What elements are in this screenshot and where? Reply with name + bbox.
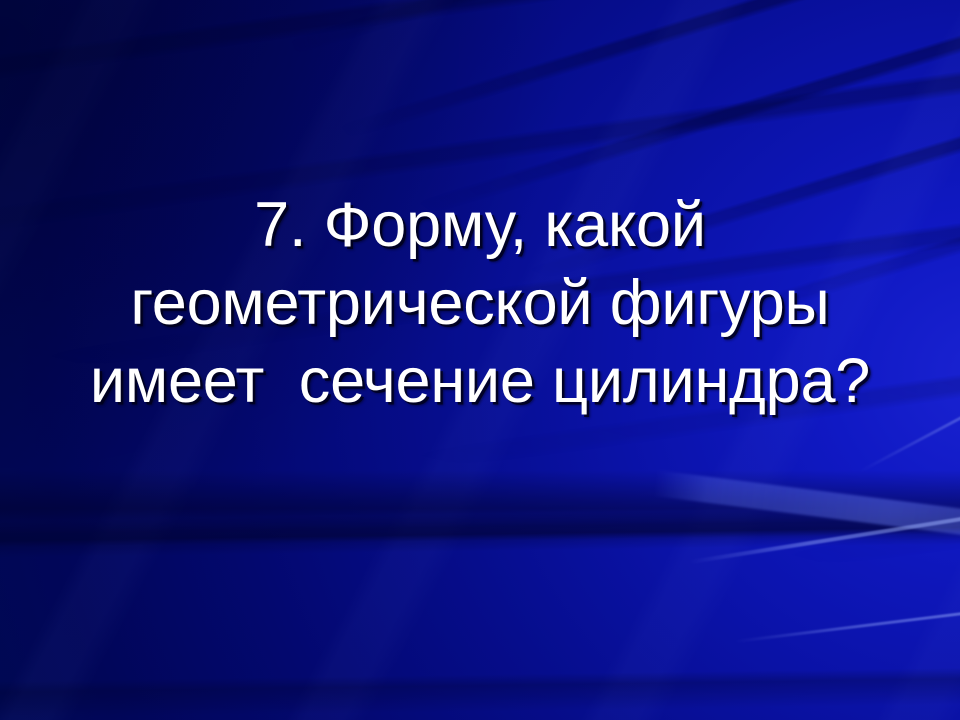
slide-title-block: 7. Форму, какой геометрической фигуры им…	[0, 186, 960, 420]
title-line-3: имеет сечение цилиндра?	[24, 342, 936, 420]
background-mid-dark-band	[0, 470, 960, 540]
background-thin-beam-one	[690, 513, 960, 564]
background-bright-beam	[653, 470, 960, 550]
presentation-slide: 7. Форму, какой геометрической фигуры им…	[0, 0, 960, 720]
title-line-1: 7. Форму, какой	[24, 186, 936, 264]
title-line-2: геометрической фигуры	[24, 264, 936, 342]
background-thin-beam-two	[735, 608, 960, 643]
